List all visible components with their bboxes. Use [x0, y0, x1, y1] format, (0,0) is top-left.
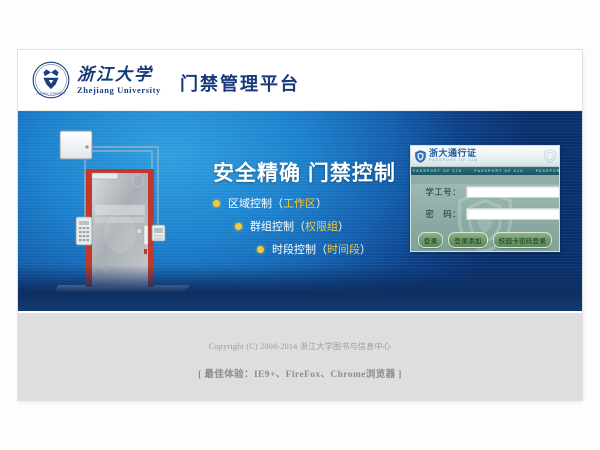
dot-icon — [257, 246, 264, 253]
site-card: ZHEJIANG UNIVERSITY 浙江大学 Zhejiang Univer… — [18, 50, 582, 400]
username-label: 学工号： — [417, 186, 461, 198]
campus-card-login-button[interactable]: 校园卡密码登录 — [493, 232, 553, 248]
university-name-en: Zhejiang University — [77, 86, 161, 95]
login-panel-title-group: 浙大通行证 PASSPORT OF ZJU — [429, 149, 478, 163]
dot-icon — [235, 223, 242, 230]
login-panel-title-en: PASSPORT OF ZJU — [429, 159, 478, 163]
shield-icon — [415, 150, 426, 163]
strip-text: PASSPORT OF ZJU — [413, 169, 462, 173]
feature-label-accent: 时间段 — [327, 241, 360, 257]
access-control-door-illustration — [40, 125, 200, 305]
login-form: 学工号： 密 码： 登录 登录添加 校园卡密码登录 — [411, 184, 559, 252]
strip-text: PASSPORT OF ZJU — [536, 169, 559, 173]
username-input[interactable] — [466, 186, 560, 198]
login-panel-passport-strip: PASSPORT OF ZJU PASSPORT OF ZJU PASSPORT… — [411, 167, 559, 175]
brand-names: 浙江大学 Zhejiang University — [77, 66, 161, 95]
feature-label-tail: ） — [338, 218, 349, 234]
svg-text:ZHEJIANG UNIVERSITY: ZHEJIANG UNIVERSITY — [36, 92, 66, 95]
login-panel: 浙大通行证 PASSPORT OF ZJU PASSPORT OF ZJU PA… — [410, 145, 560, 252]
banner-headline: 安全精确 门禁控制 — [213, 157, 396, 187]
dot-icon — [213, 200, 220, 207]
login-panel-titlebar: 浙大通行证 PASSPORT OF ZJU — [411, 146, 559, 167]
login-button-row: 登录 登录添加 校园卡密码登录 — [411, 232, 559, 248]
page-root: ZHEJIANG UNIVERSITY 浙江大学 Zhejiang Univer… — [0, 0, 600, 450]
brand-logo[interactable]: ZHEJIANG UNIVERSITY 浙江大学 Zhejiang Univer… — [32, 61, 161, 99]
site-header: ZHEJIANG UNIVERSITY 浙江大学 Zhejiang Univer… — [18, 50, 582, 111]
hero-banner: 安全精确 门禁控制 区域控制（ 工作区 ） 群组控制（ 权限组 ） 时段控制（ — [18, 111, 582, 311]
feature-label-accent: 权限组 — [305, 218, 338, 234]
browser-support-text: [ 最佳体验：IE9+、FireFox、Chrome浏览器 ] — [18, 366, 582, 380]
shield-icon — [544, 149, 556, 163]
feature-item-area: 区域控制（ 工作区 ） — [213, 195, 371, 211]
feature-label-main: 群组控制（ — [250, 218, 305, 234]
password-field-row: 密 码： — [411, 206, 559, 221]
login-panel-title-cn: 浙大通行证 — [429, 149, 478, 158]
zju-seal-icon: ZHEJIANG UNIVERSITY — [32, 61, 70, 99]
feature-label-tail: ） — [316, 195, 327, 211]
password-label: 密 码： — [417, 208, 461, 220]
university-name-cn: 浙江大学 — [77, 66, 161, 83]
page-title: 门禁管理平台 — [180, 70, 300, 96]
feature-label-accent: 工作区 — [283, 195, 316, 211]
password-input[interactable] — [466, 208, 560, 220]
feature-label-main: 时段控制（ — [272, 241, 327, 257]
login-button[interactable]: 登录 — [418, 232, 444, 248]
feature-item-group: 群组控制（ 权限组 ） — [213, 218, 371, 234]
feature-list: 区域控制（ 工作区 ） 群组控制（ 权限组 ） 时段控制（ 时间段 ） — [213, 195, 371, 264]
feature-label-tail: ） — [360, 241, 371, 257]
feature-item-timeslot: 时段控制（ 时间段 ） — [213, 241, 371, 257]
username-field-row: 学工号： — [411, 184, 559, 199]
login-add-button[interactable]: 登录添加 — [448, 232, 487, 248]
copyright-text: Copyright (C) 2008-2014 浙江大学图书与信息中心 — [18, 341, 582, 352]
site-footer: Copyright (C) 2008-2014 浙江大学图书与信息中心 [ 最佳… — [18, 311, 582, 400]
feature-label-main: 区域控制（ — [228, 195, 283, 211]
strip-text: PASSPORT OF ZJU — [474, 169, 523, 173]
